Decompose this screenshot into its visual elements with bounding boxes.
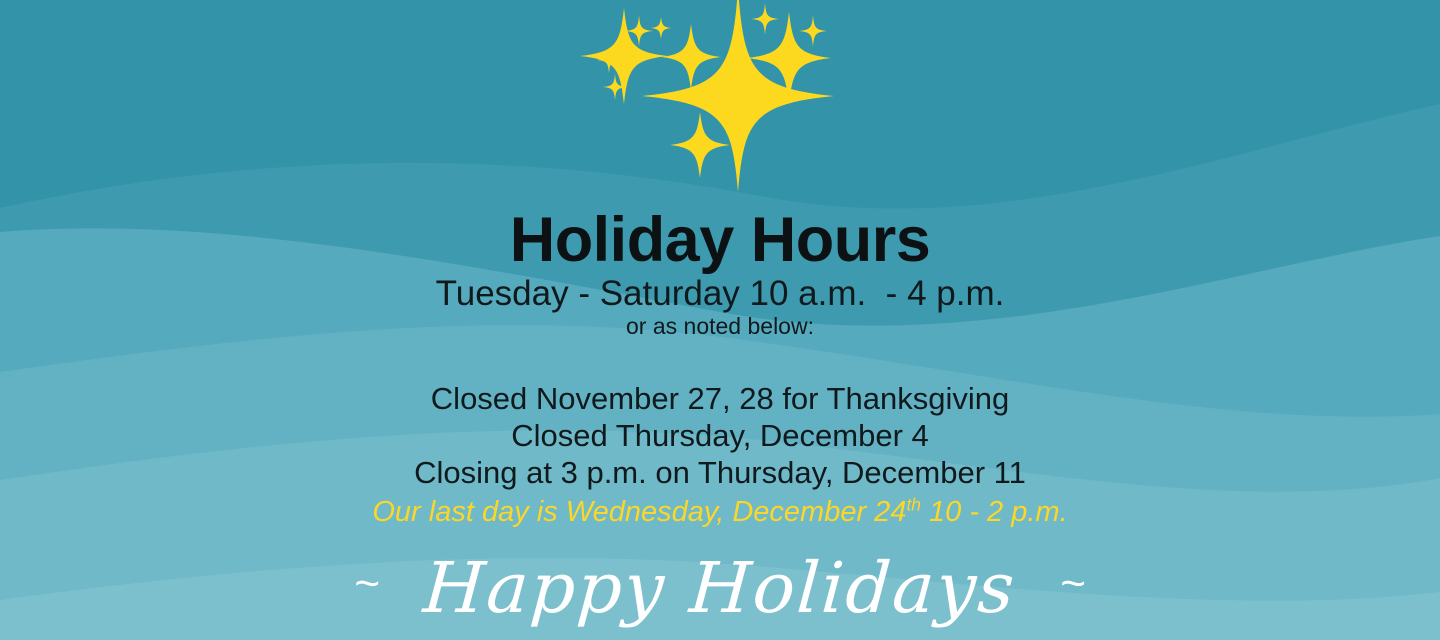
- closure-line-december-4: Closed Thursday, December 4: [0, 417, 1440, 454]
- holiday-hours-banner: Holiday Hours Tuesday - Saturday 10 a.m.…: [0, 0, 1440, 640]
- last-day-prefix: Our last day is Wednesday, December 24: [372, 496, 906, 528]
- greeting-text: Happy Holidays: [421, 547, 1019, 629]
- last-day-line: Our last day is Wednesday, December 24th…: [0, 494, 1440, 531]
- tilde-left-decoration: ~: [353, 559, 426, 608]
- last-day-ordinal-suffix: th: [906, 494, 921, 514]
- closure-line-december-11: Closing at 3 p.m. on Thursday, December …: [0, 454, 1440, 491]
- tilde-right-decoration: ~: [1015, 559, 1088, 608]
- page-title: Holiday Hours: [0, 204, 1440, 276]
- closure-line-thanksgiving: Closed November 27, 28 for Thanksgiving: [0, 380, 1440, 417]
- last-day-suffix: 10 - 2 p.m.: [921, 496, 1068, 528]
- closure-list: Closed November 27, 28 for Thanksgiving …: [0, 380, 1440, 531]
- happy-holidays-greeting: ~ Happy Holidays ~: [0, 536, 1440, 636]
- regular-hours-line: Tuesday - Saturday 10 a.m. - 4 p.m.: [0, 273, 1440, 315]
- banner-content: Holiday Hours Tuesday - Saturday 10 a.m.…: [0, 0, 1440, 640]
- as-noted-below-line: or as noted below:: [0, 311, 1440, 341]
